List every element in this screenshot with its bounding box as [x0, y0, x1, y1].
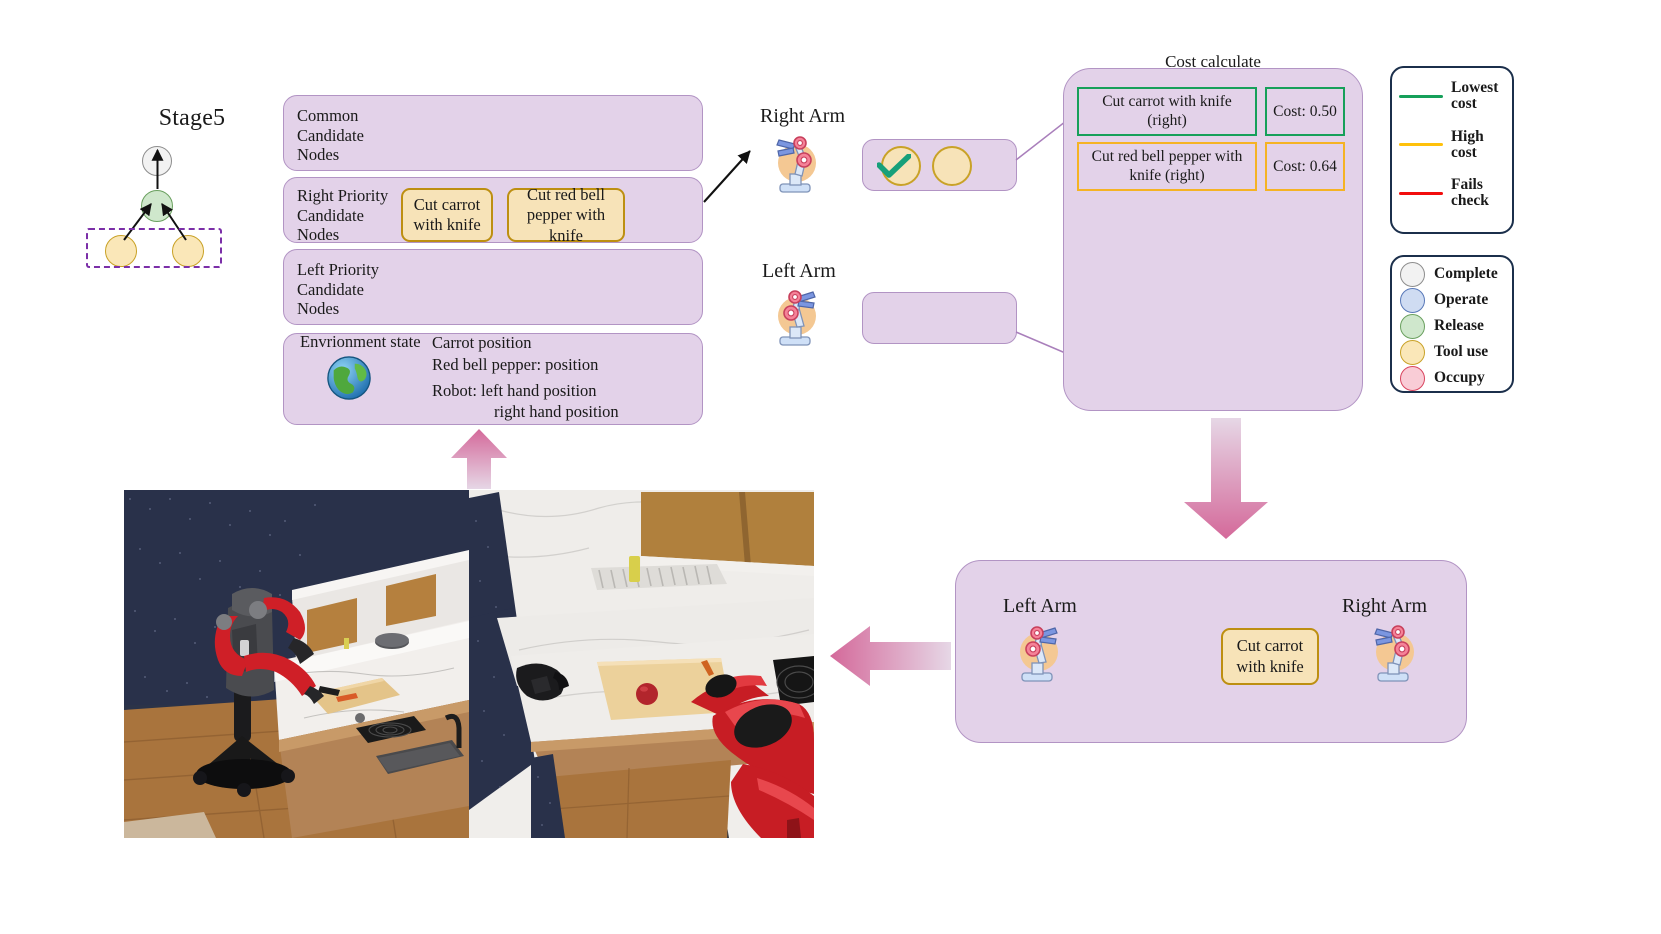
legend-label: Occupy — [1434, 370, 1485, 386]
candidate-chip-cut-red-bell-pepper[interactable]: Cut red bell pepper with knife — [507, 188, 625, 242]
robot-arm-icon — [768, 133, 824, 195]
env-value: Carrot position — [432, 332, 619, 354]
result-left-arm-title: Left Arm — [1003, 595, 1077, 618]
legend-label-line: Fails — [1451, 177, 1489, 193]
legend-label: High cost — [1451, 129, 1484, 162]
legend-label-line: Lowest — [1451, 80, 1498, 96]
label-line: Nodes — [297, 299, 397, 319]
legend-swatch-fails-check — [1399, 192, 1443, 195]
right-priority-candidate-nodes-row: Right Priority Candidate Nodes Cut carro… — [283, 177, 703, 243]
left-arm-title: Left Arm — [762, 260, 836, 283]
legend-item-lowest-cost: Lowest cost — [1392, 80, 1512, 113]
label-line: Nodes — [297, 225, 397, 245]
cost-to-result-arrow-down — [1180, 418, 1272, 540]
legend-dot-operate — [1400, 288, 1425, 313]
right-priority-label: Right Priority Candidate Nodes — [297, 186, 397, 245]
legend-label: Complete — [1434, 266, 1498, 282]
priority-group-dashed-box — [86, 228, 222, 268]
simulation-third-person-view — [124, 490, 469, 838]
robot-arm-icon — [768, 286, 824, 348]
candidates-to-right-arm-arrow — [700, 140, 760, 210]
legend-item-fails-check: Fails check — [1392, 177, 1512, 210]
legend-label: Fails check — [1451, 177, 1489, 210]
globe-icon — [326, 355, 372, 401]
cost-value-lowest: Cost: 0.50 — [1265, 87, 1345, 136]
legend-label: Operate — [1434, 292, 1488, 308]
legend-label: Lowest cost — [1451, 80, 1498, 113]
legend-dot-tool-use — [1400, 340, 1425, 365]
legend-swatch-high-cost — [1399, 143, 1443, 146]
stage-title: Stage5 — [132, 105, 252, 132]
left-priority-candidate-nodes-row: Left Priority Candidate Nodes — [283, 249, 703, 325]
left-priority-label: Left Priority Candidate Nodes — [297, 260, 397, 319]
node-status-legend: Complete Operate Release Tool use Occupy — [1390, 255, 1514, 393]
right-arm-tool-circle-2 — [932, 146, 972, 186]
label-line: Candidate — [297, 126, 397, 146]
legend-item-operate: Operate — [1392, 288, 1512, 313]
legend-label: Tool use — [1434, 344, 1488, 360]
legend-item-occupy: Occupy — [1392, 366, 1512, 391]
common-candidate-label: Common Candidate Nodes — [297, 106, 397, 165]
legend-label-line: cost — [1451, 96, 1498, 112]
legend-item-complete: Complete — [1392, 262, 1512, 287]
robot-arm-icon — [1010, 622, 1066, 684]
env-value: right hand position — [432, 401, 619, 423]
legend-label-line: cost — [1451, 145, 1484, 161]
right-arm-state-slot[interactable] — [862, 139, 1017, 191]
cost-legend: Lowest cost High cost Fails check — [1390, 66, 1514, 234]
legend-dot-release — [1400, 314, 1425, 339]
legend-label-line: check — [1451, 193, 1489, 209]
left-arm-state-slot[interactable] — [862, 292, 1017, 344]
simulation-to-environment-arrow-up — [448, 428, 510, 490]
environment-state-label: Envrionment state — [300, 332, 421, 352]
label-line: Candidate — [297, 280, 397, 300]
candidate-chip-cut-carrot[interactable]: Cut carrot with knife — [401, 188, 493, 242]
cost-task-high[interactable]: Cut red bell pepper with knife (right) — [1077, 142, 1257, 191]
result-right-arm-title: Right Arm — [1342, 595, 1427, 618]
robot-arm-icon — [1366, 622, 1422, 684]
cost-value-high: Cost: 0.64 — [1265, 142, 1345, 191]
simulation-views — [124, 490, 814, 838]
label-line: Right Priority — [297, 186, 397, 206]
legend-item-tool-use: Tool use — [1392, 340, 1512, 365]
result-action-chip[interactable]: Cut carrot with knife — [1221, 628, 1319, 685]
common-candidate-nodes-row: Common Candidate Nodes — [283, 95, 703, 171]
env-value: Red bell pepper: position — [432, 354, 619, 376]
right-arm-title: Right Arm — [760, 105, 845, 128]
legend-dot-complete — [1400, 262, 1425, 287]
label-line: Candidate — [297, 206, 397, 226]
label-line: Nodes — [297, 145, 397, 165]
legend-label-line: High — [1451, 129, 1484, 145]
legend-item-high-cost: High cost — [1392, 129, 1512, 162]
legend-dot-occupy — [1400, 366, 1425, 391]
env-value: Robot: left hand position — [432, 380, 619, 402]
label-line: Left Priority — [297, 260, 397, 280]
result-to-simulation-arrow-left — [830, 620, 952, 692]
legend-label: Release — [1434, 318, 1484, 334]
label-line: Common — [297, 106, 397, 126]
legend-item-release: Release — [1392, 314, 1512, 339]
simulation-first-person-view — [469, 490, 814, 838]
environment-state-values: Carrot position Red bell pepper: positio… — [432, 332, 619, 423]
cost-task-lowest[interactable]: Cut carrot with knife (right) — [1077, 87, 1257, 136]
legend-swatch-lowest-cost — [1399, 95, 1443, 98]
check-icon — [877, 154, 911, 178]
